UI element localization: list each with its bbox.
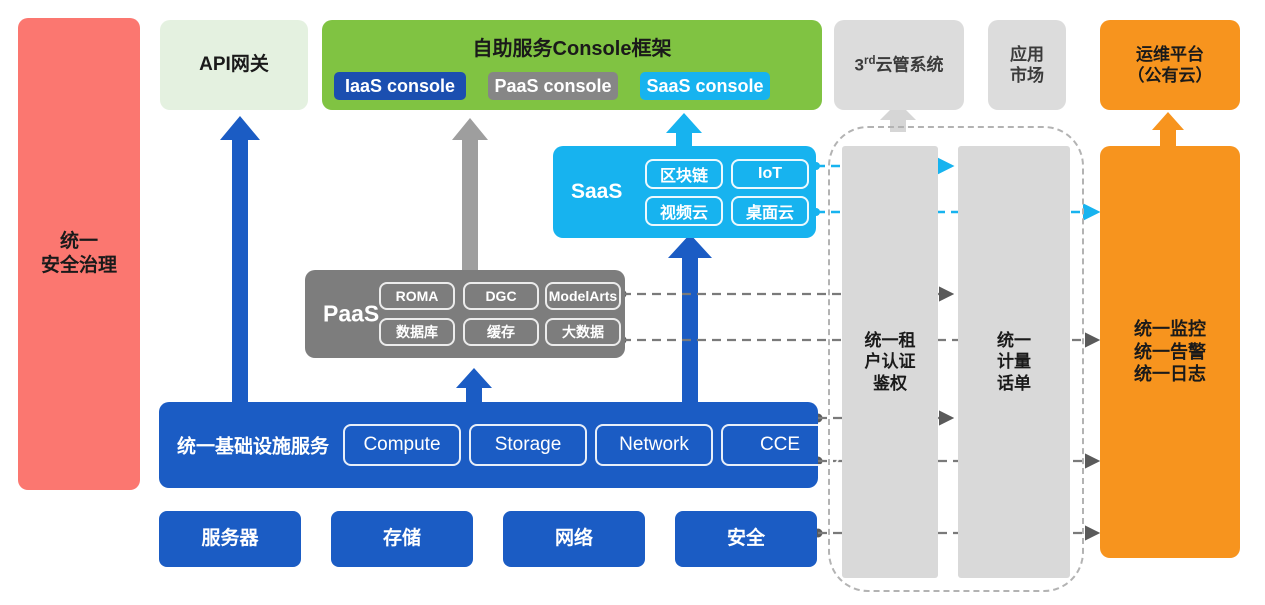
saas-label: SaaS	[571, 180, 622, 204]
resource-box-storage[interactable]: 存储	[331, 511, 473, 567]
infra-service-cce[interactable]: CCE	[721, 424, 839, 466]
paas-service-dgc[interactable]: DGC	[463, 282, 539, 310]
resource-box-server[interactable]: 服务器	[159, 511, 301, 567]
ops-panel-line-2: 统一告警	[1134, 341, 1206, 364]
infra-service-storage[interactable]: Storage	[469, 424, 587, 466]
saas-layer: SaaS 区块链 IoT 视频云 桌面云	[553, 146, 816, 238]
self-service-console-framework: 自助服务Console框架 IaaS console PaaS console …	[322, 20, 822, 110]
unified-security-governance-panel: 统一 安全治理	[18, 18, 140, 490]
api-gateway-box: API网关	[160, 20, 308, 110]
paas-service-cache[interactable]: 缓存	[463, 318, 539, 346]
iaas-console-button[interactable]: IaaS console	[334, 72, 466, 100]
paas-service-database[interactable]: 数据库	[379, 318, 455, 346]
arrow-infra-to-saas	[668, 234, 712, 405]
infra-service-network[interactable]: Network	[595, 424, 713, 466]
auth-line-2: 户认证	[865, 351, 916, 372]
unified-infrastructure-layer: 统一基础设施服务 Compute Storage Network CCE	[159, 402, 818, 488]
app-market-line-2: 市场	[1010, 65, 1044, 86]
api-gateway-label: API网关	[199, 53, 269, 77]
governance-line-2: 安全治理	[41, 254, 117, 278]
ops-panel-line-3: 统一日志	[1134, 363, 1206, 386]
saas-service-video-cloud[interactable]: 视频云	[645, 196, 723, 226]
paas-service-modelarts[interactable]: ModelArts	[545, 282, 621, 310]
metering-line-1: 统一	[997, 330, 1031, 351]
ops-platform-box: 运维平台 （公有云）	[1100, 20, 1240, 110]
console-framework-title: 自助服务Console框架	[322, 32, 822, 61]
unified-tenant-auth-column: 统一租 户认证 鉴权	[842, 146, 938, 578]
application-market-box: 应用 市场	[988, 20, 1066, 110]
saas-service-blockchain[interactable]: 区块链	[645, 159, 723, 189]
app-market-line-1: 应用	[1010, 44, 1044, 65]
governance-line-1: 统一	[60, 230, 98, 254]
third-party-rest: 云管系统	[876, 56, 944, 75]
infra-service-compute[interactable]: Compute	[343, 424, 461, 466]
arrow-paas-to-console	[452, 118, 488, 272]
unified-monitoring-panel: 统一监控 统一告警 统一日志	[1100, 146, 1240, 558]
arrow-saas-to-saasconsole	[666, 113, 702, 148]
arrow-infra-to-paas	[456, 368, 492, 405]
third-party-superscript: rd	[864, 55, 876, 67]
ops-platform-line-2: （公有云）	[1128, 65, 1213, 86]
third-party-cloud-management-box: 3rd云管系统	[834, 20, 964, 110]
arrow-infra-to-apigw	[220, 116, 260, 405]
resource-box-network[interactable]: 网络	[503, 511, 645, 567]
arrow-opspanel-to-opsplatform	[1152, 112, 1184, 146]
third-party-label: 3rd云管系统	[854, 54, 943, 76]
ops-platform-line-1: 运维平台	[1136, 44, 1204, 65]
architecture-diagram: 统一 安全治理 API网关 自助服务Console框架 IaaS console…	[0, 0, 1265, 605]
third-party-prefix: 3	[854, 56, 863, 75]
metering-line-3: 话单	[997, 373, 1031, 394]
paas-service-roma[interactable]: ROMA	[379, 282, 455, 310]
auth-line-3: 鉴权	[873, 373, 907, 394]
metering-line-2: 计量	[997, 351, 1031, 372]
resource-box-security[interactable]: 安全	[675, 511, 817, 567]
saas-service-iot[interactable]: IoT	[731, 159, 809, 189]
unified-metering-billing-column: 统一 计量 话单	[958, 146, 1070, 578]
ops-panel-line-1: 统一监控	[1134, 318, 1206, 341]
paas-layer: PaaS ROMA DGC ModelArts 数据库 缓存 大数据	[305, 270, 625, 358]
paas-label: PaaS	[323, 301, 379, 328]
saas-console-button[interactable]: SaaS console	[640, 72, 770, 100]
paas-service-bigdata[interactable]: 大数据	[545, 318, 621, 346]
auth-line-1: 统一租	[865, 330, 916, 351]
saas-service-desktop-cloud[interactable]: 桌面云	[731, 196, 809, 226]
paas-console-button[interactable]: PaaS console	[488, 72, 618, 100]
infrastructure-label: 统一基础设施服务	[177, 432, 329, 459]
